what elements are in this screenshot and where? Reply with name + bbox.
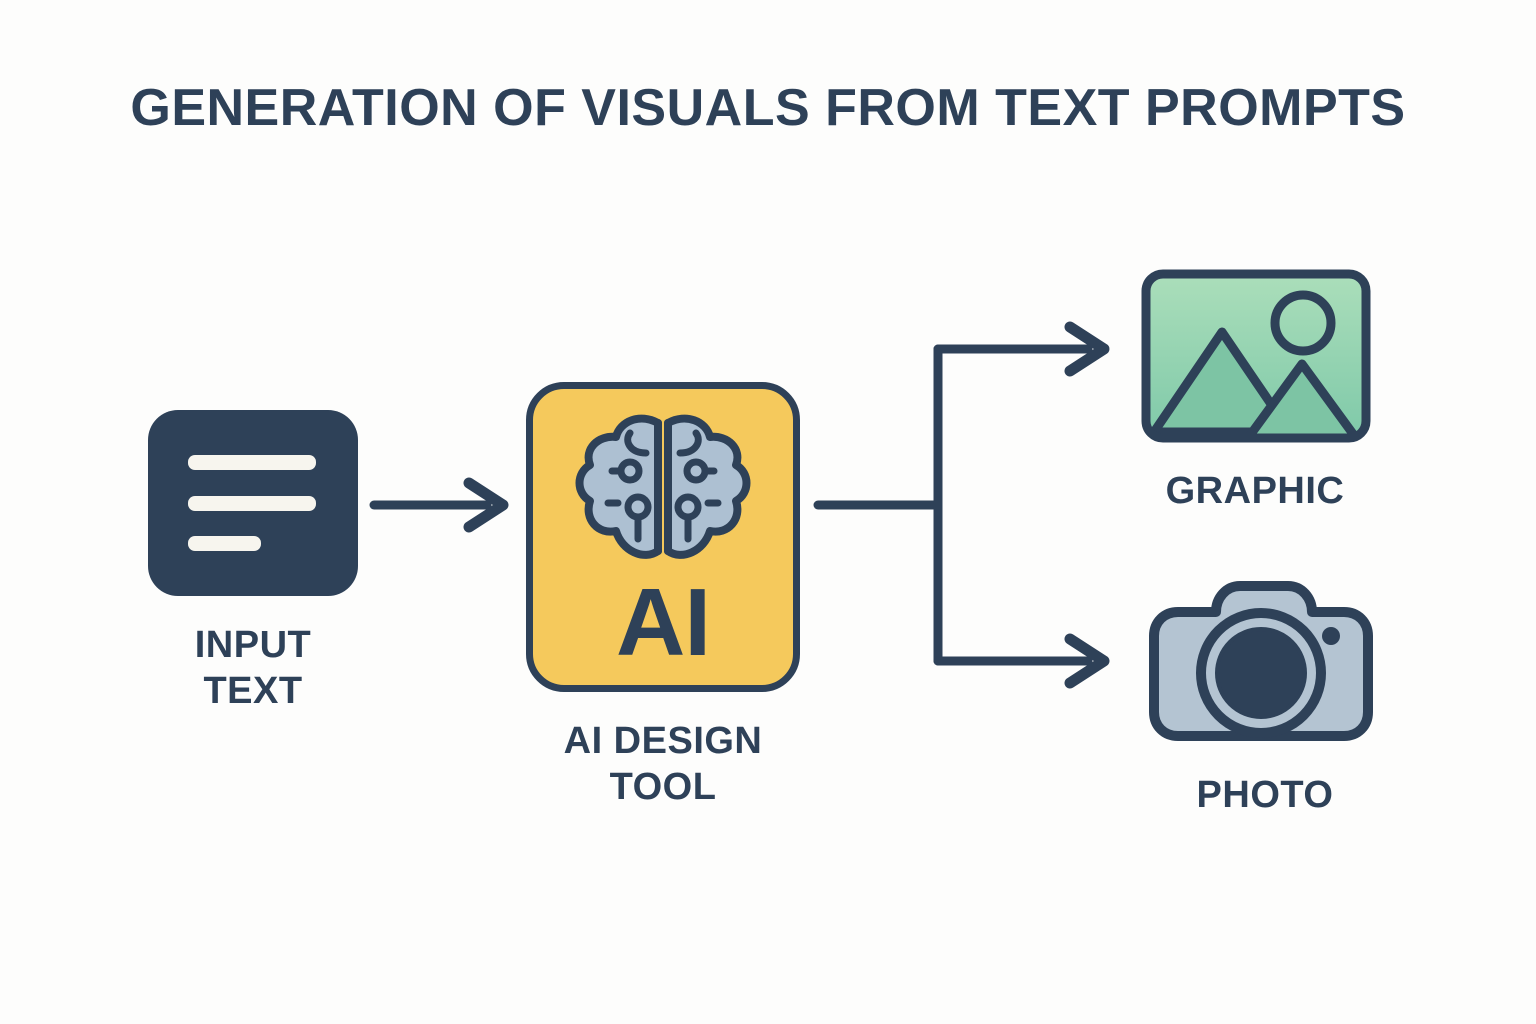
text-line-1 [188, 455, 316, 470]
brain-circuit-icon [568, 411, 758, 571]
input-label-line-1: INPUT [128, 622, 378, 668]
connector-ai-to-photo [938, 639, 1104, 683]
camera-icon [1148, 572, 1374, 754]
text-lines-icon [148, 410, 358, 596]
brain-node-right-upper [687, 462, 705, 480]
ai-tool-box: AI [526, 382, 800, 692]
connector-ai-to-graphic [938, 327, 1104, 371]
input-label-line-2: TEXT [128, 668, 378, 714]
node-label-graphic: GRAPHIC [1130, 468, 1380, 514]
node-label-input-text: INPUT TEXT [128, 622, 378, 715]
text-line-2 [188, 496, 316, 511]
node-photo[interactable] [1148, 572, 1374, 754]
brain-node-left-lower [628, 497, 648, 517]
text-line-3 [188, 536, 261, 551]
node-input-text[interactable] [148, 410, 358, 596]
connector-input-to-ai [374, 483, 503, 527]
node-label-ai-design-tool: AI DESIGN TOOL [513, 718, 813, 811]
diagram-canvas: GENERATION OF VISUALS FROM TEXT PROMPTS [0, 0, 1536, 1024]
ai-label-line-2: TOOL [513, 764, 813, 810]
ai-label-line-1: AI DESIGN [513, 718, 813, 764]
connector-ai-branch-spine [818, 349, 938, 661]
node-ai-design-tool[interactable]: AI [526, 382, 800, 692]
brain-node-right-lower [678, 497, 698, 517]
node-label-photo: PHOTO [1140, 772, 1390, 818]
page-title: GENERATION OF VISUALS FROM TEXT PROMPTS [0, 78, 1536, 138]
node-graphic[interactable] [1138, 266, 1374, 446]
camera-flash-dot [1322, 627, 1340, 645]
camera-lens-inner [1217, 629, 1305, 717]
ai-acronym-text: AI [533, 575, 793, 671]
image-placeholder-icon [1138, 266, 1374, 446]
brain-node-left-upper [621, 462, 639, 480]
